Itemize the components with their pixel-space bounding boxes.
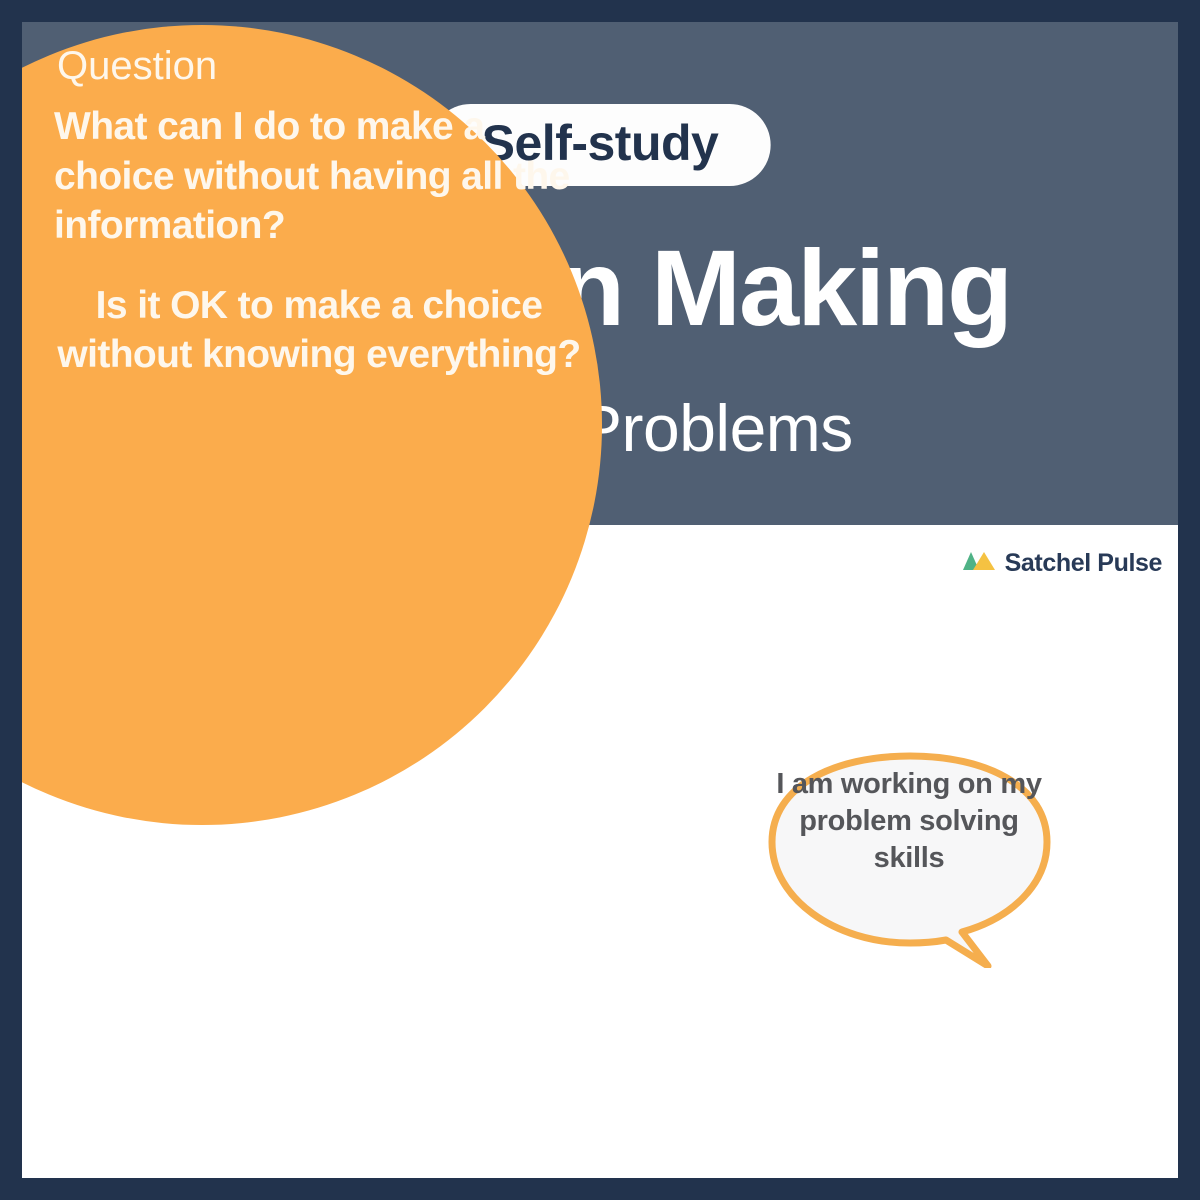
question-block: Question What can I do to make a choice … <box>54 44 584 380</box>
slide-frame: Self-study Decision Making Solving Probl… <box>0 0 1200 1200</box>
slide-canvas: Self-study Decision Making Solving Probl… <box>22 22 1178 1178</box>
question-label: Question <box>57 44 584 88</box>
brand-logo: Satchel Pulse <box>962 550 1162 577</box>
speech-bubble: I am working on my problem solving skill… <box>750 738 1070 968</box>
speech-bubble-text: I am working on my problem solving skill… <box>772 766 1046 876</box>
question-prompt-primary: What can I do to make a choice without h… <box>54 102 584 251</box>
brand-name: Satchel Pulse <box>1005 551 1162 576</box>
mountains-icon <box>962 550 996 577</box>
question-prompt-secondary: Is it OK to make a choice without knowin… <box>54 281 584 380</box>
